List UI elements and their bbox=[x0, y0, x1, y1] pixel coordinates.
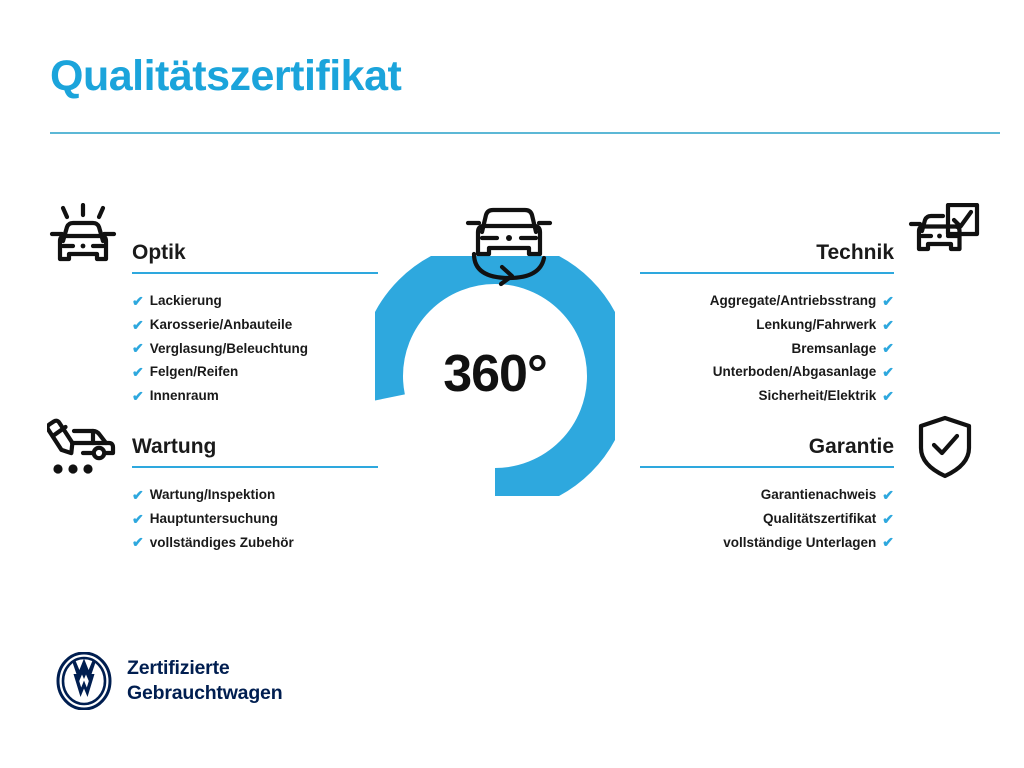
shield-check-icon bbox=[916, 415, 974, 484]
footer-line-1: Zertifizierte bbox=[127, 656, 282, 681]
section-underline bbox=[132, 466, 378, 468]
list-item-label: Unterboden/Abgasanlage bbox=[713, 360, 877, 384]
list-item: Bremsanlage✔ bbox=[640, 337, 894, 361]
list-item: ✔vollständiges Zubehör bbox=[132, 531, 378, 555]
badge-ring: Gebrauchtwagen-Check bbox=[375, 256, 615, 496]
list-item-label: Lackierung bbox=[150, 289, 222, 313]
list-item: Unterboden/Abgasanlage✔ bbox=[640, 360, 894, 384]
list-item-label: Hauptuntersuchung bbox=[150, 507, 278, 531]
list-item-label: Aggregate/Antriebsstrang bbox=[710, 289, 877, 313]
car-rotate-icon bbox=[454, 196, 564, 290]
gebrauchtwagen-check-badge: Gebrauchtwagen-Check 360° bbox=[375, 196, 647, 496]
list-item: ✔Hauptuntersuchung bbox=[132, 507, 378, 531]
check-icon: ✔ bbox=[132, 389, 144, 403]
section-title-garantie: Garantie bbox=[640, 434, 894, 460]
section-header: Garantie bbox=[640, 434, 894, 468]
check-icon: ✔ bbox=[882, 365, 894, 379]
qualitaetszertifikat-page: Qualitätszertifikat bbox=[0, 0, 1024, 768]
section-underline bbox=[640, 466, 894, 468]
list-item: ✔Felgen/Reifen bbox=[132, 360, 378, 384]
section-header: Technik bbox=[640, 240, 894, 274]
section-title-wartung: Wartung bbox=[132, 434, 378, 460]
check-icon: ✔ bbox=[132, 294, 144, 308]
check-icon: ✔ bbox=[882, 389, 894, 403]
check-icon: ✔ bbox=[132, 341, 144, 355]
list-item: Garantienachweis✔ bbox=[640, 483, 894, 507]
list-item-label: Karosserie/Anbauteile bbox=[150, 313, 293, 337]
list-item-label: vollständige Unterlagen bbox=[723, 531, 876, 555]
check-icon: ✔ bbox=[882, 294, 894, 308]
checklist-garantie: Garantienachweis✔ Qualitätszertifikat✔ v… bbox=[640, 483, 894, 554]
title-divider bbox=[50, 132, 1000, 134]
section-underline bbox=[640, 272, 894, 274]
list-item-label: vollständiges Zubehör bbox=[150, 531, 294, 555]
list-item: Qualitätszertifikat✔ bbox=[640, 507, 894, 531]
checklist-optik: ✔Lackierung ✔Karosserie/Anbauteile ✔Verg… bbox=[132, 289, 378, 408]
checklist-wartung: ✔Wartung/Inspektion ✔Hauptuntersuchung ✔… bbox=[132, 483, 378, 554]
list-item: ✔Wartung/Inspektion bbox=[132, 483, 378, 507]
list-item-label: Lenkung/Fahrwerk bbox=[756, 313, 876, 337]
vw-logo-icon bbox=[55, 652, 113, 710]
list-item: Sicherheit/Elektrik✔ bbox=[640, 384, 894, 408]
list-item: ✔Verglasung/Beleuchtung bbox=[132, 337, 378, 361]
vw-certified-logo: Zertifizierte Gebrauchtwagen bbox=[55, 652, 282, 710]
check-icon: ✔ bbox=[132, 365, 144, 379]
check-icon: ✔ bbox=[132, 488, 144, 502]
check-icon: ✔ bbox=[882, 341, 894, 355]
list-item: ✔Innenraum bbox=[132, 384, 378, 408]
section-technik: Technik Aggregate/Antriebsstrang✔ Lenkun… bbox=[640, 240, 894, 408]
check-icon: ✔ bbox=[882, 488, 894, 502]
check-icon: ✔ bbox=[882, 512, 894, 526]
list-item-label: Wartung/Inspektion bbox=[150, 483, 276, 507]
footer-text: Zertifizierte Gebrauchtwagen bbox=[127, 656, 282, 706]
list-item: ✔Lackierung bbox=[132, 289, 378, 313]
section-garantie: Garantie Garantienachweis✔ Qualitätszert… bbox=[640, 434, 894, 554]
check-icon: ✔ bbox=[882, 535, 894, 549]
list-item-label: Felgen/Reifen bbox=[150, 360, 239, 384]
list-item-label: Verglasung/Beleuchtung bbox=[150, 337, 308, 361]
list-item: Lenkung/Fahrwerk✔ bbox=[640, 313, 894, 337]
section-title-technik: Technik bbox=[640, 240, 894, 266]
section-optik: Optik ✔Lackierung ✔Karosserie/Anbauteile… bbox=[132, 240, 378, 408]
check-icon: ✔ bbox=[882, 318, 894, 332]
check-icon: ✔ bbox=[132, 535, 144, 549]
list-item-label: Qualitätszertifikat bbox=[763, 507, 876, 531]
page-title: Qualitätszertifikat bbox=[50, 54, 401, 99]
check-icon: ✔ bbox=[132, 318, 144, 332]
section-underline bbox=[132, 272, 378, 274]
list-item-label: Sicherheit/Elektrik bbox=[758, 384, 876, 408]
list-item-label: Garantienachweis bbox=[761, 483, 877, 507]
section-header: Optik bbox=[132, 240, 378, 274]
section-title-optik: Optik bbox=[132, 240, 378, 266]
list-item: vollständige Unterlagen✔ bbox=[640, 531, 894, 555]
checklist-technik: Aggregate/Antriebsstrang✔ Lenkung/Fahrwe… bbox=[640, 289, 894, 408]
car-shine-icon bbox=[47, 203, 119, 280]
car-checkbox-icon bbox=[908, 203, 980, 276]
list-item-label: Innenraum bbox=[150, 384, 219, 408]
section-header: Wartung bbox=[132, 434, 378, 468]
list-item: ✔Karosserie/Anbauteile bbox=[132, 313, 378, 337]
list-item-label: Bremsanlage bbox=[791, 337, 876, 361]
list-item: Aggregate/Antriebsstrang✔ bbox=[640, 289, 894, 313]
service-pen-car-icon bbox=[47, 415, 119, 482]
footer-line-2: Gebrauchtwagen bbox=[127, 681, 282, 706]
section-wartung: Wartung ✔Wartung/Inspektion ✔Hauptunters… bbox=[132, 434, 378, 554]
check-icon: ✔ bbox=[132, 512, 144, 526]
